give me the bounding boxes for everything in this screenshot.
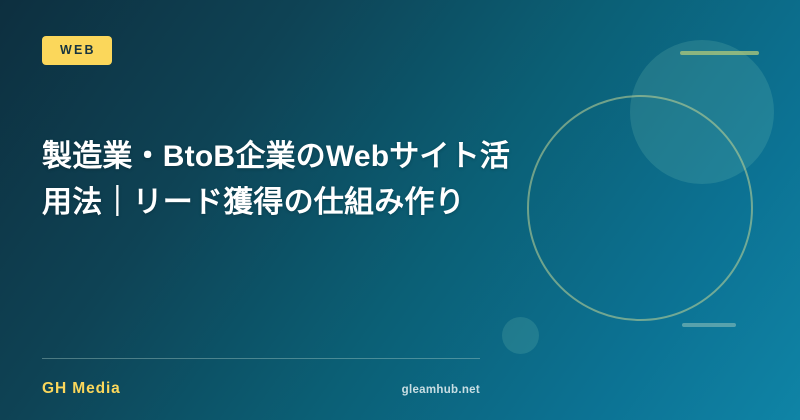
category-badge: WEB [42,36,112,65]
site-domain: gleamhub.net [402,385,480,397]
site-name: GH Media [42,381,121,397]
footer-row: GH Media gleamhub.net [42,381,480,397]
card-footer: GH Media gleamhub.net [42,358,758,397]
footer-divider [42,358,480,359]
page-title: 製造業・BtoB企業のWebサイト活用法｜リード獲得の仕組み作り [42,134,512,225]
og-image-card: WEB 製造業・BtoB企業のWebサイト活用法｜リード獲得の仕組み作り GH … [0,0,800,420]
